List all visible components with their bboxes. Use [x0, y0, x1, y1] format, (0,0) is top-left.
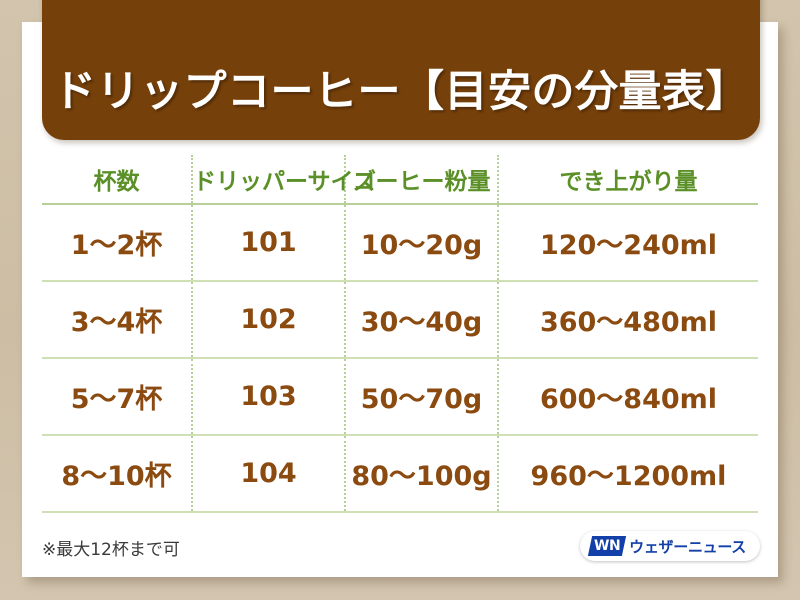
page-title: ドリップコーヒー【目安の分量表】	[53, 71, 749, 114]
cell-dripper: 101	[192, 204, 345, 281]
logo-brand-name: ウェザーニュース	[629, 536, 746, 557]
cell-cups: 5〜7杯	[42, 358, 192, 435]
cell-dripper: 103	[192, 358, 345, 435]
cell-yield: 600〜840ml	[498, 358, 758, 435]
cell-cups: 1〜2杯	[42, 204, 192, 281]
table-row: 3〜4杯 102 30〜40g 360〜480ml	[42, 281, 758, 358]
table-row: 8〜10杯 104 80〜100g 960〜1200ml	[42, 435, 758, 512]
footnote-text: ※最大12杯まで可	[42, 535, 180, 560]
cell-grounds: 10〜20g	[345, 204, 498, 281]
cell-yield: 960〜1200ml	[498, 435, 758, 512]
title-banner: ドリップコーヒー【目安の分量表】	[42, 0, 760, 140]
wn-mark-label: WN	[594, 538, 620, 554]
footer: ※最大12杯まで可 WN ウェザーニュース	[22, 525, 778, 577]
column-header-dripper: ドリッパーサイズ	[192, 155, 345, 204]
wn-mark-icon: WN	[588, 536, 626, 556]
cell-yield: 120〜240ml	[498, 204, 758, 281]
cell-grounds: 30〜40g	[345, 281, 498, 358]
table-row: 5〜7杯 103 50〜70g 600〜840ml	[42, 358, 758, 435]
column-header-grounds: コーヒー粉量	[345, 155, 498, 204]
weathernews-logo: WN ウェザーニュース	[580, 531, 760, 561]
cell-yield: 360〜480ml	[498, 281, 758, 358]
cell-grounds: 80〜100g	[345, 435, 498, 512]
table-header-row: 杯数 ドリッパーサイズ コーヒー粉量 でき上がり量	[42, 155, 758, 204]
cell-grounds: 50〜70g	[345, 358, 498, 435]
infographic-canvas: ドリップコーヒー【目安の分量表】 杯数 ドリッパーサイズ コーヒー粉量 でき上が…	[0, 0, 800, 600]
table-row: 1〜2杯 101 10〜20g 120〜240ml	[42, 204, 758, 281]
cell-cups: 8〜10杯	[42, 435, 192, 512]
cell-dripper: 102	[192, 281, 345, 358]
measurement-table: 杯数 ドリッパーサイズ コーヒー粉量 でき上がり量 1〜2杯 101 10〜20…	[42, 155, 758, 513]
column-header-yield: でき上がり量	[498, 155, 758, 204]
cell-cups: 3〜4杯	[42, 281, 192, 358]
column-header-cups: 杯数	[42, 155, 192, 204]
cell-dripper: 104	[192, 435, 345, 512]
measurement-table-container: 杯数 ドリッパーサイズ コーヒー粉量 でき上がり量 1〜2杯 101 10〜20…	[22, 155, 778, 513]
